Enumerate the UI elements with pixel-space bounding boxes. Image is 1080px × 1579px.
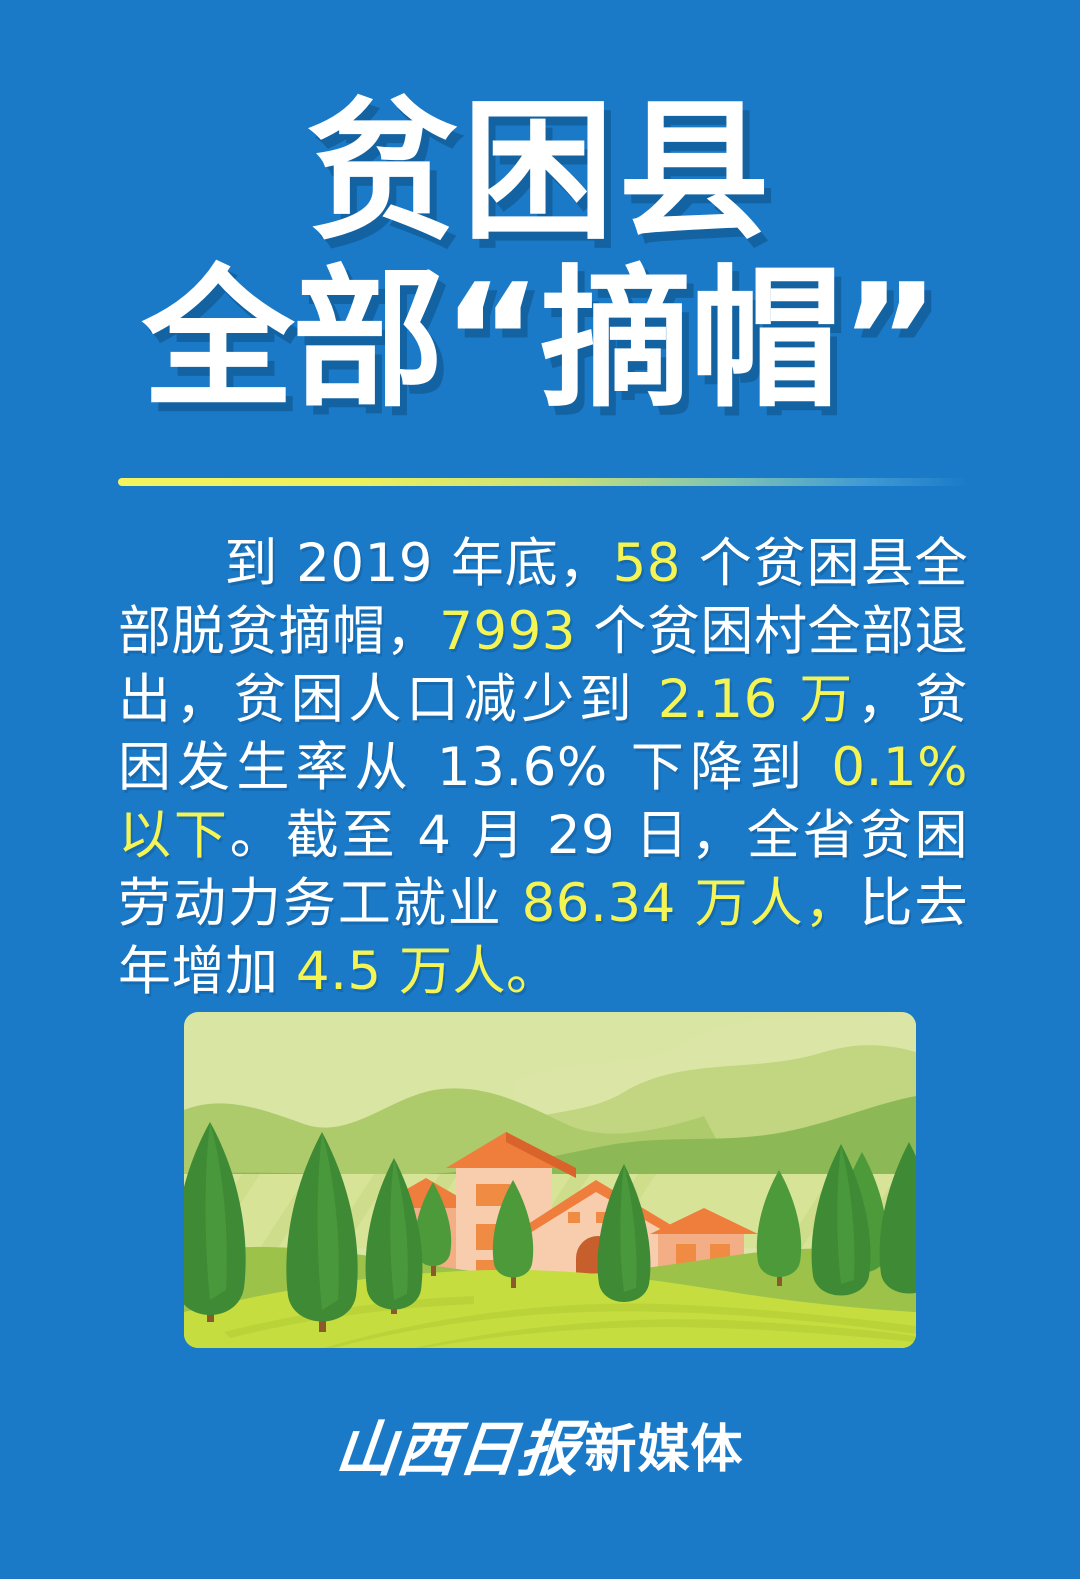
logo-suffix-text: 新媒体 <box>584 1412 743 1488</box>
rural-village-illustration <box>184 1012 916 1348</box>
footer-logo: 山西日报 新媒体 <box>0 1412 1080 1488</box>
highlight-stat-3: 7993 <box>439 601 576 662</box>
poster-title: 贫困县 全部“摘帽” <box>0 88 1080 424</box>
landscape-svg <box>184 1012 916 1348</box>
highlight-stat-1: 58 <box>613 533 681 594</box>
highlight-stat-9: 86.34 万人， <box>522 873 860 934</box>
logo-calligraphy-text: 山西日报 <box>332 1412 584 1488</box>
highlight-stat-11: 4.5 万人。 <box>296 941 560 1002</box>
title-line-1: 贫困县 <box>0 88 1080 256</box>
body-paragraph: 到 2019 年底，58 个贫困县全部脱贫摘帽，7993 个贫困村全部退出，贫困… <box>118 530 968 1006</box>
divider-gradient-line <box>118 478 968 486</box>
highlight-stat-5: 2.16 万 <box>658 669 857 730</box>
body-text-run-0: 到 2019 年底， <box>224 533 613 594</box>
title-divider <box>118 478 968 486</box>
poster-root: 贫困县 全部“摘帽” 到 2019 年底，58 个贫困县全部脱贫摘帽，7993 … <box>0 0 1080 1579</box>
house-wide-window-1 <box>568 1212 580 1223</box>
title-line-2: 全部“摘帽” <box>0 256 1080 424</box>
